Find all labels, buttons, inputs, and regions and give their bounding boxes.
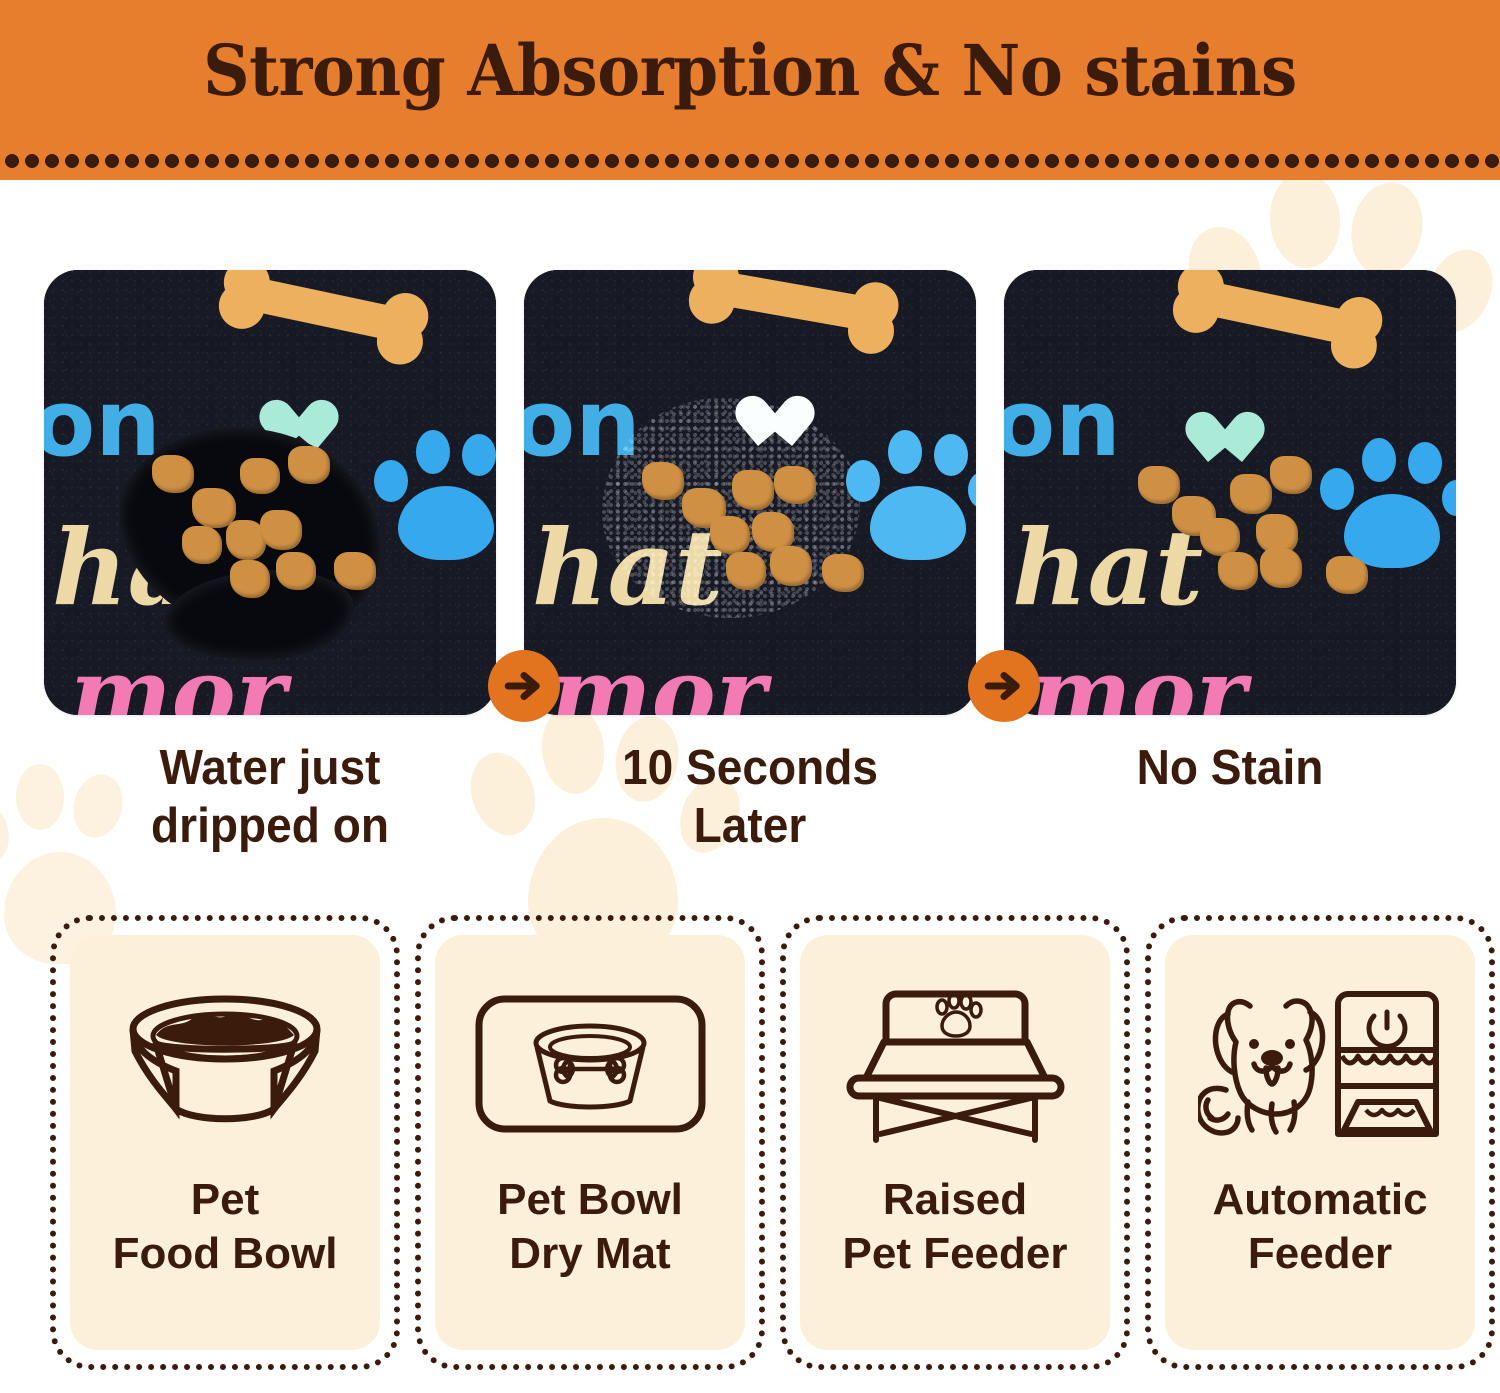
mat-word-mor: mor	[550, 646, 766, 715]
dotted-rule-divider	[0, 154, 1500, 168]
absorption-demo-strip: on hat mor	[0, 180, 1500, 880]
paw-print-icon	[842, 420, 976, 570]
demo-photo-water-dripped: on hat mor	[44, 270, 496, 715]
automatic-feeder-icon	[1198, 969, 1443, 1159]
infographic-page: Strong Absorption & No stains on hat mor	[0, 0, 1500, 1393]
feature-card-pet-bowl-dry-mat[interactable]: Pet Bowl Dry Mat	[415, 915, 765, 1370]
arrow-right-icon-1	[488, 650, 560, 722]
kibble-piece	[276, 552, 316, 590]
kibble-piece	[1260, 548, 1302, 588]
feature-card-automatic-feeder[interactable]: Automatic Feeder	[1145, 915, 1495, 1370]
kibble-piece	[240, 458, 280, 494]
damp-absorbing-area	[602, 398, 860, 618]
mat-word-mor: mor	[1030, 646, 1246, 715]
demo-photo-no-stain: on hat mor	[1004, 270, 1456, 715]
kibble-piece	[260, 510, 302, 550]
feature-card-pet-food-bowl[interactable]: Pet Food Bowl	[50, 915, 400, 1370]
mat-word-hat: hat	[1012, 516, 1203, 620]
kibble-piece	[710, 516, 750, 554]
page-title: Strong Absorption & No stains	[60, 36, 1440, 106]
kibble-piece	[182, 526, 222, 564]
pet-bowl-dry-mat-icon	[473, 969, 708, 1159]
kibble-piece	[152, 455, 194, 493]
kibble-piece	[192, 488, 236, 528]
arrow-right-icon-2	[968, 650, 1040, 722]
kibble-piece	[770, 546, 812, 586]
raised-pet-feeder-icon	[838, 969, 1073, 1159]
paw-print-icon	[370, 420, 496, 570]
demo-caption-no-stain: No Stain	[1018, 740, 1443, 798]
demo-photo-ten-seconds: on hat mor	[524, 270, 976, 715]
kibble-piece	[1326, 556, 1368, 594]
kibble-piece	[1230, 474, 1272, 514]
kibble-piece	[642, 462, 684, 500]
feature-cards: Pet Food Bowl	[0, 915, 1500, 1393]
kibble-piece	[1200, 518, 1240, 556]
mat-word-on: on	[44, 378, 161, 470]
demo-caption-ten-seconds: 10 Seconds Later	[538, 740, 963, 856]
kibble-piece	[1270, 456, 1312, 494]
feature-card-label: Automatic Feeder	[1212, 1173, 1427, 1280]
demo-caption-water-dripped: Water just dripped on	[58, 740, 483, 856]
feature-card-raised-pet-feeder[interactable]: Raised Pet Feeder	[780, 915, 1130, 1370]
kibble-piece	[334, 552, 376, 590]
pet-food-bowl-icon	[110, 969, 340, 1159]
kibble-piece	[726, 552, 766, 590]
kibble-piece	[822, 554, 864, 592]
kibble-piece	[1218, 552, 1258, 590]
feature-card-label: Pet Bowl Dry Mat	[497, 1173, 683, 1280]
kibble-piece	[230, 560, 270, 598]
mat-word-on: on	[1004, 378, 1121, 470]
kibble-piece	[1138, 466, 1180, 504]
header-banner: Strong Absorption & No stains	[0, 0, 1500, 180]
heart-icon	[758, 416, 812, 466]
feature-card-label: Raised Pet Feeder	[843, 1173, 1068, 1280]
kibble-piece	[288, 446, 330, 484]
kibble-piece	[774, 466, 816, 504]
feature-card-label: Pet Food Bowl	[113, 1173, 338, 1280]
kibble-piece	[732, 470, 774, 510]
